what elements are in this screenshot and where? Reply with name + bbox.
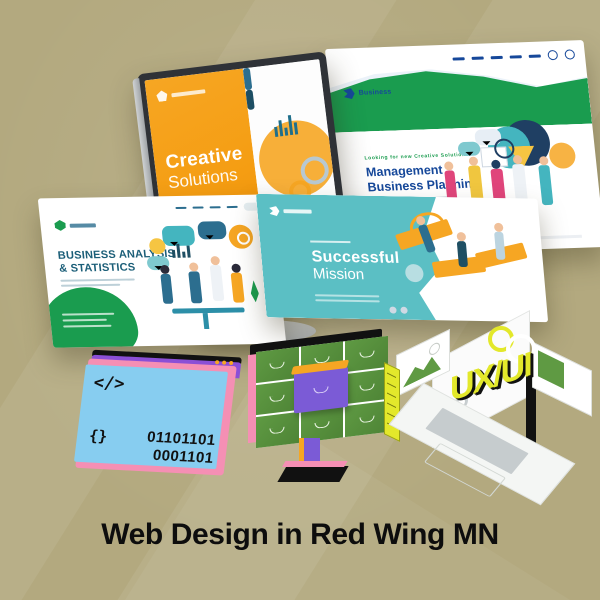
slide-body-text: [315, 294, 380, 304]
logo-mark-icon: [269, 206, 280, 216]
bar-chart-icon: [272, 108, 298, 137]
logo-text: Business: [358, 89, 392, 97]
filing-cabinet-monitor: [256, 336, 388, 448]
logo-text: [283, 209, 311, 213]
brand-logo: Business: [343, 87, 392, 100]
ruler-toolbar-icon: [384, 362, 400, 442]
cabinet-drawer[interactable]: [256, 380, 299, 416]
user-icon: [564, 49, 575, 59]
slide-pagination: [389, 307, 408, 314]
wireframe-panel-icon: [532, 341, 592, 416]
person-figure: [242, 68, 252, 91]
slide-illustration: [139, 218, 280, 340]
brand-logo: [269, 206, 312, 217]
cabinet-drawer[interactable]: [256, 347, 299, 383]
page-title: Web Design in Red Wing MN: [0, 518, 600, 552]
logo-mark-icon: [343, 88, 355, 99]
code-tag-icon: </>: [92, 373, 125, 394]
poster-canvas: Business Looking for new Creative Soluti…: [0, 0, 600, 600]
slide-illustration: [383, 206, 543, 316]
slide-successful-mission: Successful Mission: [256, 194, 548, 322]
code-browser-window: </> {} 01101101 0001101: [75, 359, 237, 476]
title-rule: [310, 240, 350, 243]
brand-logo: [156, 85, 206, 102]
logo-text: [171, 89, 205, 97]
binary-text: 01101101 0001101: [144, 429, 217, 467]
cabinet-drawer[interactable]: [345, 401, 388, 437]
curly-brace-icon: {}: [88, 427, 108, 446]
slide-business-analysis-statistics: BUSINESS ANALYSIS & STATISTICS: [38, 194, 287, 347]
table-prop: [172, 307, 245, 313]
logo-text: [70, 223, 97, 227]
cabinet-drawer-open[interactable]: [294, 367, 348, 414]
cabinet-drawer[interactable]: [345, 369, 388, 405]
window-content: </> {} 01101101 0001101: [74, 364, 228, 469]
cabinet-monitor-base: [277, 466, 348, 482]
brand-logo: [54, 219, 96, 231]
cabinet-drawer[interactable]: [256, 412, 299, 448]
cabinet-drawer[interactable]: [345, 336, 388, 372]
slide-nav: [452, 49, 575, 63]
person-figure: [245, 90, 254, 111]
logo-mark-icon: [156, 90, 168, 102]
slide-nav: [175, 203, 262, 212]
slide-title: Creative Solutions: [164, 143, 246, 192]
uxui-laptop: UX/UI: [392, 330, 592, 500]
logo-mark-icon: [54, 220, 66, 231]
search-icon: [547, 50, 558, 60]
decorative-green-blob: [38, 286, 141, 347]
slide-body-text: [60, 278, 135, 288]
